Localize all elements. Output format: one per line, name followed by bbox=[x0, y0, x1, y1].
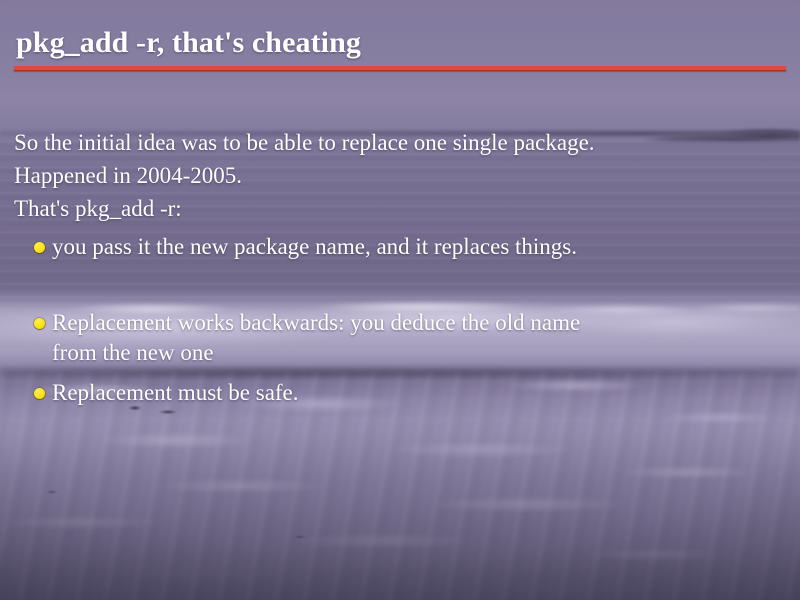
slide-content: pkg_add -r, that's cheating So the initi… bbox=[0, 0, 800, 600]
body-paragraph: Happened in 2004-2005. bbox=[14, 164, 242, 187]
slide-title: pkg_add -r, that's cheating bbox=[16, 26, 361, 60]
presentation-slide: pkg_add -r, that's cheating So the initi… bbox=[0, 0, 800, 600]
list-item-label: Replacement works backwards: you deduce … bbox=[52, 308, 580, 368]
list-item-label: Replacement must be safe. bbox=[52, 378, 299, 408]
list-item: Replacement must be safe. bbox=[34, 378, 299, 408]
bullet-dot-icon bbox=[34, 318, 45, 329]
list-item-label: you pass it the new package name, and it… bbox=[52, 232, 577, 262]
body-paragraph: That's pkg_add -r: bbox=[14, 197, 182, 220]
title-underline-rule bbox=[14, 66, 786, 71]
bullet-dot-icon bbox=[34, 242, 45, 253]
bullet-dot-icon bbox=[34, 388, 45, 399]
list-item: you pass it the new package name, and it… bbox=[34, 232, 577, 262]
body-paragraph: So the initial idea was to be able to re… bbox=[14, 131, 595, 154]
list-item: Replacement works backwards: you deduce … bbox=[34, 308, 580, 368]
